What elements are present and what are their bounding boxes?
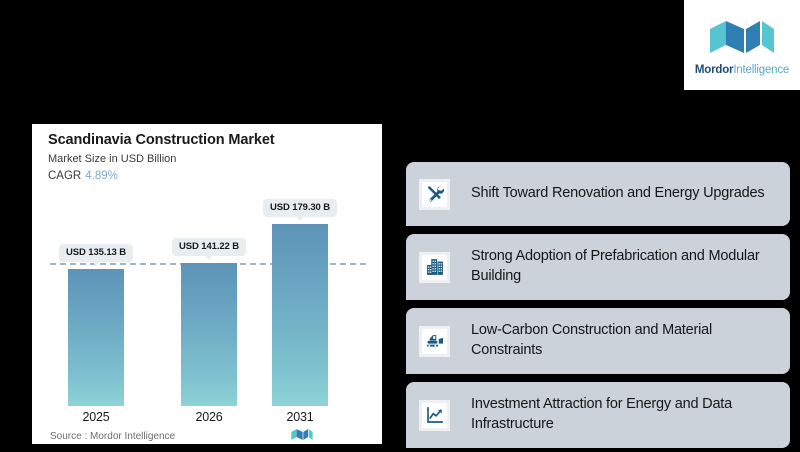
x-axis-tick-2025: 2025 bbox=[68, 410, 124, 424]
brand-word-bold: Mordor bbox=[695, 64, 733, 76]
insight-label: Strong Adoption of Prefabrication and Mo… bbox=[471, 247, 790, 286]
slide-canvas: MordorIntelligence Scandinavia Construct… bbox=[0, 0, 800, 452]
growth-chart-icon bbox=[419, 400, 450, 431]
source-label: Source : bbox=[50, 431, 87, 442]
cagr-row: CAGR4.89% bbox=[48, 170, 118, 182]
insight-card-prefabrication[interactable]: Strong Adoption of Prefabrication and Mo… bbox=[406, 234, 790, 300]
brand-wordmark: MordorIntelligence bbox=[695, 64, 789, 76]
bar-value-label: USD 135.13 B bbox=[59, 244, 133, 262]
bar-value-label: USD 141.22 B bbox=[172, 238, 246, 256]
cagr-label: CAGR bbox=[48, 170, 81, 182]
bulldozer-icon bbox=[419, 326, 450, 357]
insight-card-renovation[interactable]: Shift Toward Renovation and Energy Upgra… bbox=[406, 162, 790, 226]
buildings-icon bbox=[419, 252, 450, 283]
insight-card-investment[interactable]: Investment Attraction for Energy and Dat… bbox=[406, 382, 790, 448]
brand-word-light: Intelligence bbox=[733, 64, 789, 76]
bar-value-label: USD 179.30 B bbox=[263, 199, 337, 217]
market-size-chart-card: Scandinavia Construction Market Market S… bbox=[32, 124, 382, 444]
source-name: Mordor Intelligence bbox=[90, 431, 175, 442]
x-axis-tick-2031: 2031 bbox=[272, 410, 328, 424]
tools-icon bbox=[419, 179, 450, 210]
x-axis-tick-2026: 2026 bbox=[181, 410, 237, 424]
chart-source-note: Source : Mordor Intelligence bbox=[50, 431, 175, 442]
bar-2026[interactable] bbox=[181, 263, 237, 406]
source-mordor-logo-icon bbox=[290, 427, 314, 442]
chart-title: Scandinavia Construction Market bbox=[48, 132, 275, 148]
insight-card-low-carbon[interactable]: Low-Carbon Construction and Material Con… bbox=[406, 308, 790, 374]
brand-logo-card: MordorIntelligence bbox=[684, 0, 800, 90]
bar-2025[interactable] bbox=[68, 269, 124, 406]
mordor-intelligence-logo-icon bbox=[706, 15, 778, 59]
bar-chart-plot-area: USD 135.13 B USD 141.22 B USD 179.30 B bbox=[32, 198, 382, 406]
key-insights-panel: Shift Toward Renovation and Energy Upgra… bbox=[400, 162, 800, 452]
bar-2031[interactable] bbox=[272, 224, 328, 406]
insight-label: Investment Attraction for Energy and Dat… bbox=[471, 395, 790, 434]
insight-label: Low-Carbon Construction and Material Con… bbox=[471, 321, 790, 360]
insight-label: Shift Toward Renovation and Energy Upgra… bbox=[471, 184, 772, 204]
chart-subtitle: Market Size in USD Billion bbox=[48, 153, 176, 165]
cagr-value: 4.89% bbox=[85, 170, 118, 182]
